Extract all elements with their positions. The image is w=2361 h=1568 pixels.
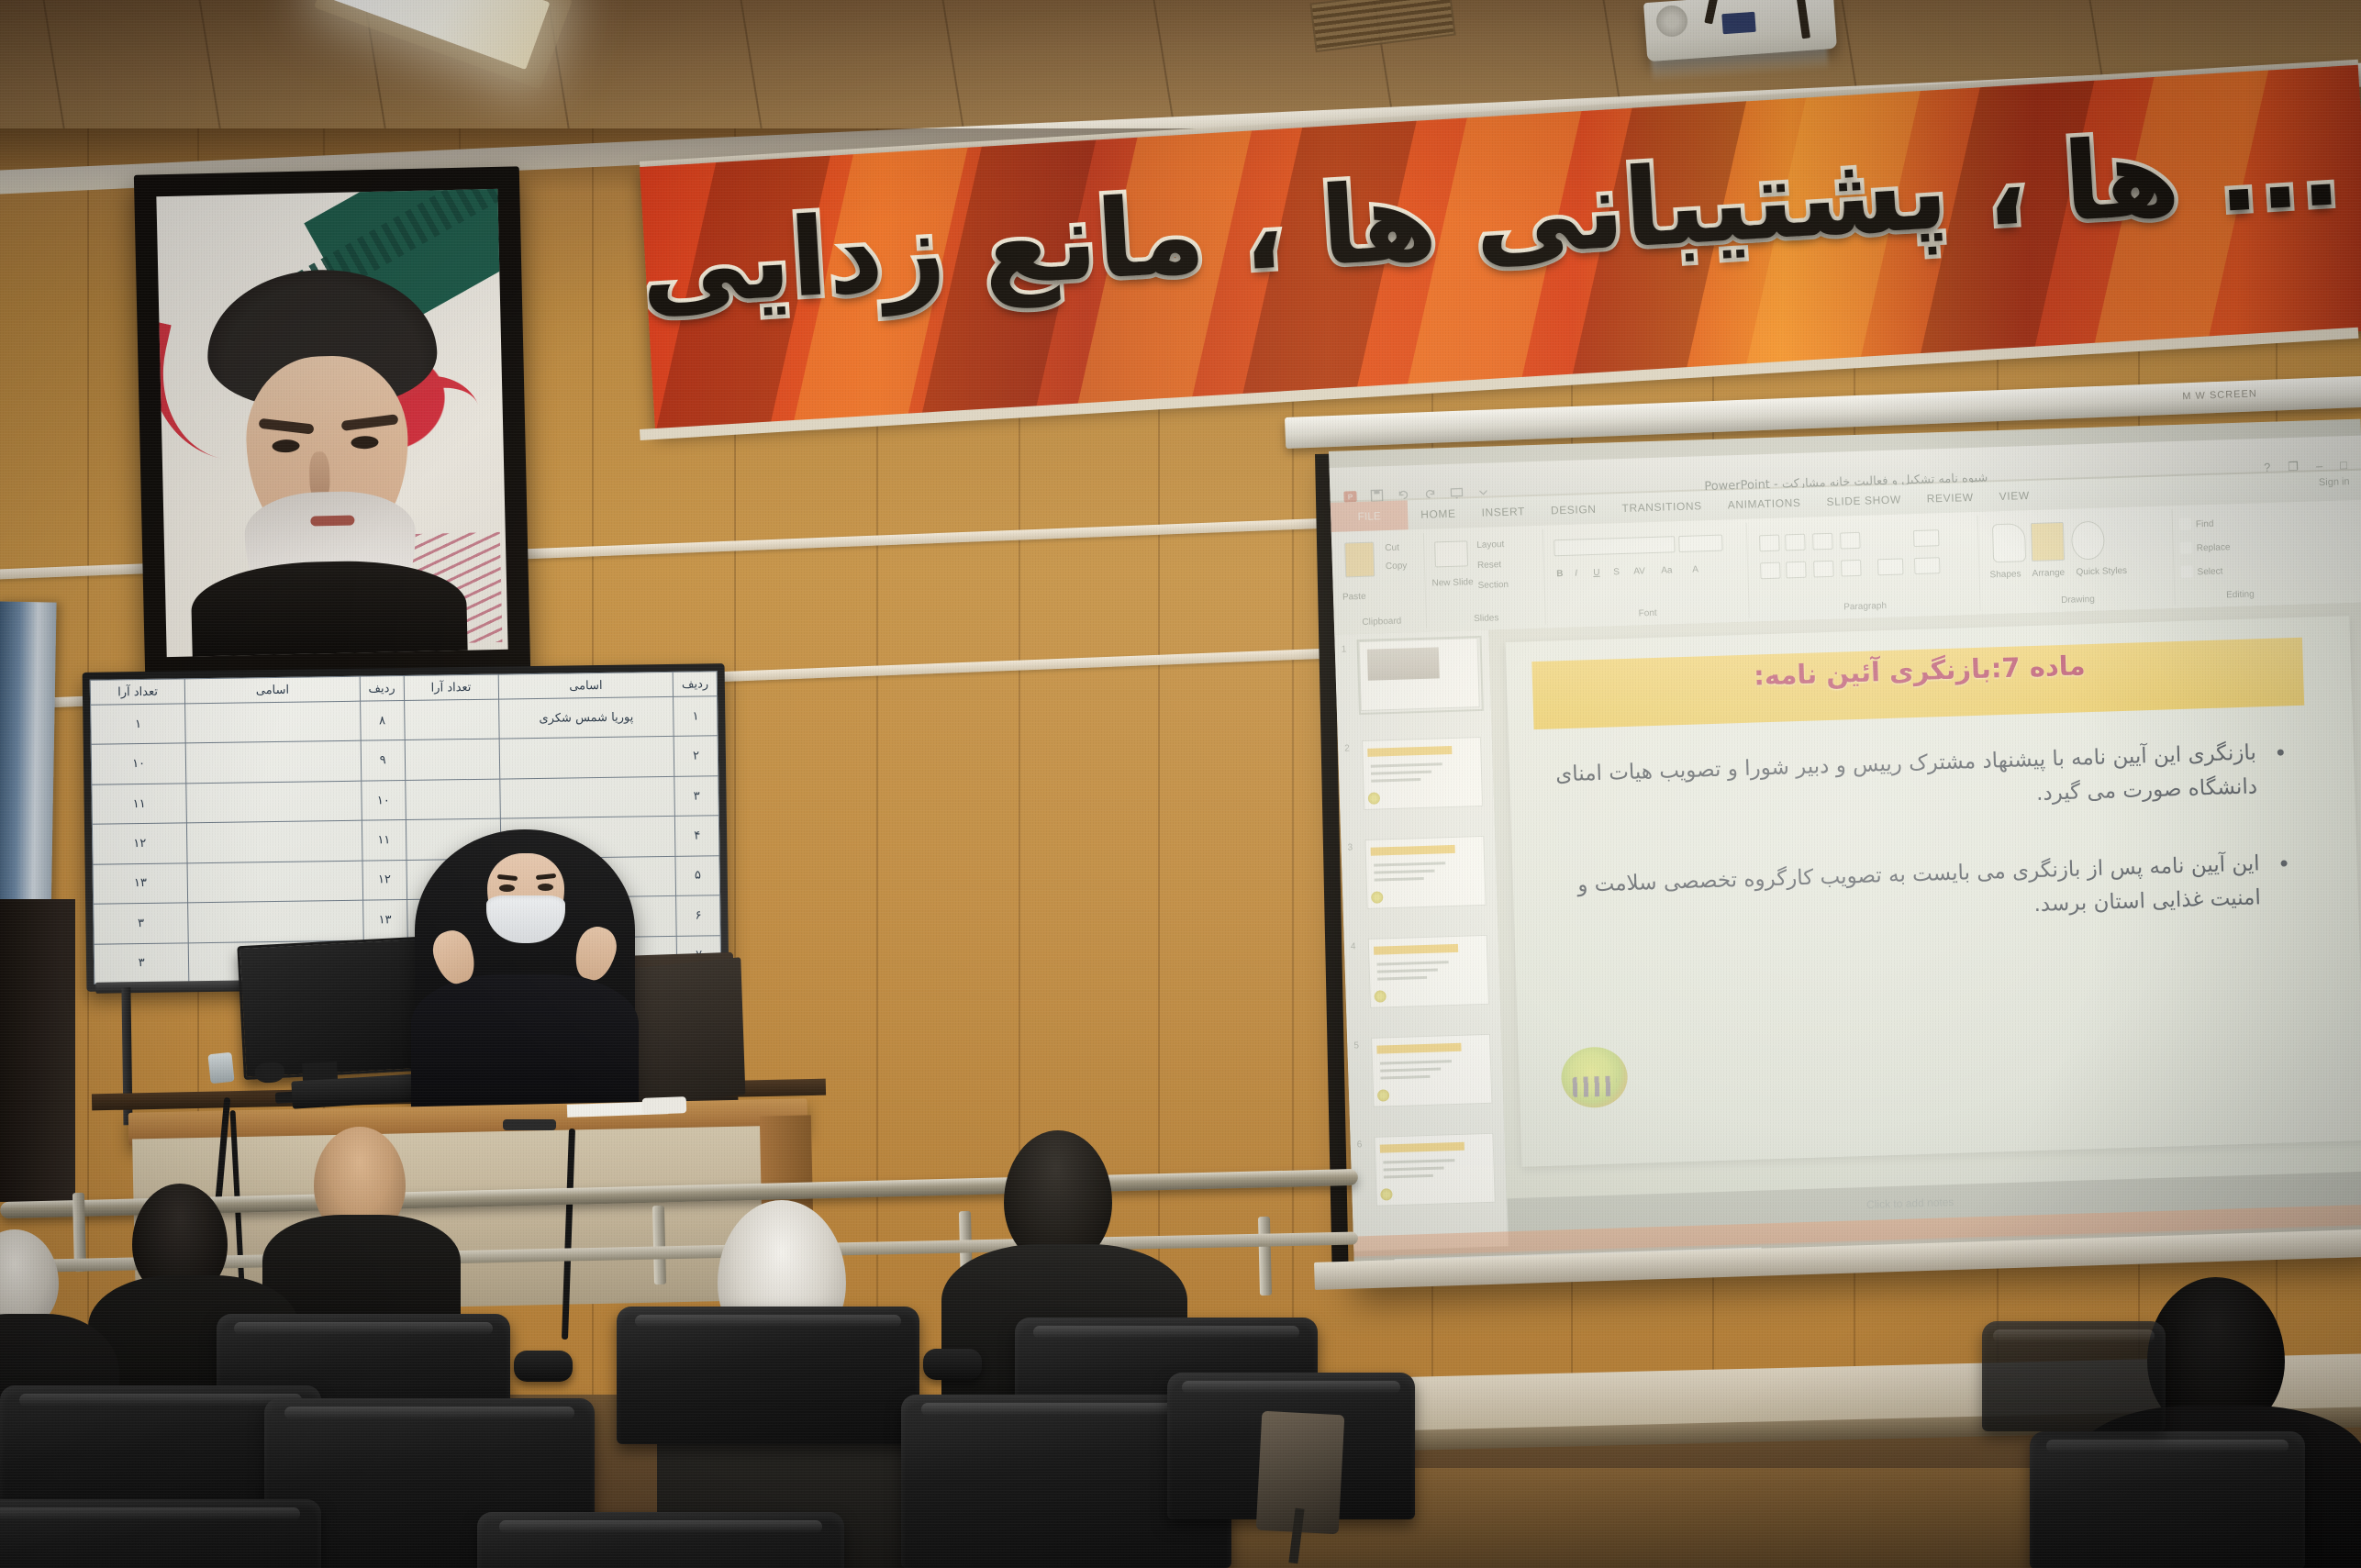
- tab-insert[interactable]: INSERT: [1468, 505, 1538, 519]
- thumbnail-text-line: [1384, 1174, 1433, 1179]
- presenter-remote[interactable]: [642, 1096, 687, 1115]
- arrange-label[interactable]: Arrange: [2032, 568, 2065, 579]
- cell-row-left: ۱۳: [362, 900, 406, 940]
- thumbnail-text-line: [1375, 877, 1424, 882]
- cell-name-left: [187, 861, 362, 903]
- thumbnail-title-band: [1374, 944, 1458, 955]
- cell-votes-left: ۳: [94, 903, 189, 944]
- ribbon-group-clipboard[interactable]: Paste Cut Copy Clipboard: [1335, 533, 1427, 631]
- thumbnail-number: 4: [1351, 941, 1356, 951]
- thumbnail-number: 6: [1357, 1140, 1363, 1150]
- cell-row-right: ۶: [676, 895, 720, 936]
- new-slide-label[interactable]: New Slide: [1431, 577, 1473, 588]
- cell-row-right: ۲: [674, 736, 718, 776]
- tab-transitions[interactable]: TRANSITIONS: [1609, 499, 1715, 516]
- cell-row-left: ۹: [361, 740, 405, 781]
- cut-label[interactable]: Cut: [1385, 543, 1399, 553]
- thumbnail-number: 1: [1342, 645, 1347, 655]
- group-label-clipboard: Clipboard: [1338, 616, 1426, 628]
- cell-row-right: ۱: [674, 696, 718, 737]
- thumbnail-text-line: [1371, 762, 1442, 767]
- slide-bullet-list: بازنگری این آیین نامه با پیشنهاد مشترک ر…: [1548, 735, 2299, 937]
- increase-indent-icon[interactable]: [1840, 532, 1861, 550]
- rail-post-2: [652, 1206, 666, 1284]
- paste-icon[interactable]: [1344, 542, 1375, 578]
- cell-row-right: ۵: [675, 855, 719, 895]
- seat-arm-1: [514, 1351, 573, 1382]
- thumbnail-text-line: [1380, 1060, 1452, 1064]
- ribbon-group-drawing[interactable]: Shapes Arrange Quick Styles Drawing: [1979, 509, 2176, 611]
- italic-button[interactable]: I: [1575, 569, 1577, 579]
- powerpoint-window[interactable]: P: [1329, 419, 2361, 1286]
- header-name-left: اسامی: [184, 676, 360, 704]
- numbering-icon[interactable]: [1785, 534, 1806, 551]
- seat-row1-2[interactable]: [617, 1307, 919, 1444]
- slide-body[interactable]: بازنگری این آیین نامه با پیشنهاد مشترک ر…: [1548, 735, 2300, 979]
- change-case-button[interactable]: Aa: [1661, 565, 1673, 575]
- thumbnail-text-line: [1371, 778, 1420, 783]
- thumbnail-seal-icon: [1371, 891, 1383, 903]
- cell-votes-right: [405, 739, 500, 780]
- cell-votes-left: ۱: [91, 704, 186, 745]
- thumbnail-seal-icon: [1380, 1188, 1392, 1200]
- thumbnail-text-line: [1374, 870, 1434, 874]
- bullets-icon[interactable]: [1759, 535, 1780, 552]
- thumbnail-title-band: [1371, 845, 1455, 856]
- slide-thumbnail-5[interactable]: 5: [1371, 1034, 1492, 1107]
- thumbnail-title-band: [1380, 1142, 1464, 1153]
- seal-figures-icon: [1573, 1075, 1618, 1096]
- find-icon[interactable]: [2179, 518, 2191, 530]
- seat-right-2[interactable]: [1982, 1321, 2166, 1431]
- bold-button[interactable]: B: [1556, 569, 1564, 579]
- thumbnail-seal-icon: [1374, 990, 1386, 1002]
- group-label-editing: Editing: [2176, 588, 2304, 602]
- tab-home[interactable]: HOME: [1408, 506, 1469, 521]
- thumbnail-number: 5: [1353, 1040, 1359, 1051]
- presenter-eye-right: [538, 884, 553, 891]
- conference-hall-photo: ... ها ، پشتیبانی ها ، مانع زدایی ها مبا…: [0, 0, 2361, 1568]
- sign-in-link[interactable]: Sign in: [2319, 476, 2350, 488]
- cell-name-left: [186, 781, 362, 823]
- convert-smartart-icon[interactable]: [1914, 557, 1941, 574]
- slide-bullet-2[interactable]: این آیین نامه پس از بازنگری می بایست به …: [1551, 847, 2270, 938]
- thumbnail-text-line: [1374, 862, 1445, 866]
- justify-icon[interactable]: [1841, 560, 1862, 577]
- tab-animations[interactable]: ANIMATIONS: [1715, 495, 1814, 511]
- khomeini-portrait-frame: [134, 166, 530, 679]
- seat-row3-1[interactable]: [0, 1499, 321, 1568]
- tab-file[interactable]: FILE: [1331, 500, 1409, 532]
- thumbnail-seal-icon: [1368, 792, 1380, 804]
- tab-view[interactable]: VIEW: [1986, 489, 2042, 504]
- header-row-right: ردیف: [674, 672, 718, 697]
- font-color-button[interactable]: A: [1692, 564, 1698, 574]
- replace-icon[interactable]: [2180, 542, 2192, 554]
- cell-name-left: [187, 820, 362, 862]
- cell-name-left: [185, 701, 361, 743]
- decrease-indent-icon[interactable]: [1812, 533, 1833, 550]
- cell-row-left: ۸: [360, 701, 404, 741]
- portrait-mouth: [310, 515, 354, 526]
- thumbnail-title-band: [1376, 1043, 1461, 1054]
- thumbnail-title-band: [1367, 746, 1452, 757]
- tab-slide-show[interactable]: SLIDE SHOW: [1813, 493, 1914, 508]
- shadow-button[interactable]: S: [1613, 567, 1620, 577]
- current-slide[interactable]: ماده 7:بازنگری آئین نامه: بازنگری این آی…: [1506, 616, 2361, 1167]
- rail-post-4: [1258, 1217, 1272, 1296]
- cell-row-left: ۱۰: [362, 780, 406, 820]
- layout-label[interactable]: Layout: [1476, 539, 1504, 550]
- ribbon-group-slides[interactable]: New Slide Layout Reset Section Slides: [1425, 529, 1546, 628]
- text-direction-icon[interactable]: [1913, 529, 1940, 547]
- align-left-icon[interactable]: [1760, 562, 1781, 580]
- notes-placeholder[interactable]: Click to add notes: [1866, 1195, 1955, 1211]
- group-label-font: Font: [1547, 606, 1749, 622]
- thumbnail-number: 2: [1344, 743, 1350, 753]
- thumbnail-text-line: [1377, 969, 1438, 973]
- group-label-drawing: Drawing: [1981, 592, 2174, 608]
- seat-row3-2[interactable]: [477, 1512, 844, 1568]
- projector-vga-port: [1721, 12, 1755, 34]
- thumbnail-text-line: [1377, 961, 1449, 965]
- thumbnail-text-line: [1371, 771, 1431, 775]
- slide-editing-area[interactable]: ماده 7:بازنگری آئین نامه: بازنگری این آی…: [1488, 603, 2361, 1199]
- slide-thumbnail-4[interactable]: 4: [1368, 935, 1489, 1008]
- seat-right-1[interactable]: [2030, 1431, 2305, 1568]
- thumbnail-text-line: [1384, 1166, 1444, 1171]
- cell-votes-left: ۱۰: [91, 743, 186, 784]
- quick-styles-label[interactable]: Quick Styles: [2076, 566, 2127, 578]
- seat-arm-2: [923, 1349, 982, 1380]
- thumbnail-seal-icon: [1377, 1089, 1389, 1101]
- thumbnail-text-line: [1383, 1159, 1454, 1163]
- new-slide-icon[interactable]: [1434, 540, 1468, 567]
- align-right-icon[interactable]: [1813, 561, 1834, 578]
- cell-votes-right: [404, 699, 499, 740]
- font-size-dropdown[interactable]: [1678, 535, 1723, 552]
- desktop-monitor: [237, 937, 425, 1080]
- shapes-gallery-icon[interactable]: [1992, 523, 2026, 562]
- header-row-left: ردیف: [360, 676, 404, 702]
- cell-name-right: [499, 737, 674, 779]
- slide-thumbnail-3[interactable]: 3: [1364, 836, 1486, 909]
- slide-thumbnail-6[interactable]: 6: [1374, 1133, 1495, 1207]
- microphone-base: [503, 1119, 556, 1130]
- reset-label[interactable]: Reset: [1477, 560, 1501, 571]
- ribbon-group-editing[interactable]: Find Replace Select Editing: [2173, 506, 2304, 605]
- header-name-right: اسامی: [498, 672, 674, 699]
- replace-label[interactable]: Replace: [2197, 542, 2231, 553]
- thumbnail-text-line: [1377, 976, 1427, 981]
- thumbnail-number: 3: [1347, 842, 1353, 852]
- presenter-woman: [415, 807, 635, 1138]
- cell-row-left: ۱۲: [362, 860, 406, 900]
- cell-votes-left: ۳: [94, 942, 189, 984]
- cell-name-left: [188, 900, 363, 942]
- cell-row-right: ۳: [674, 776, 718, 817]
- select-icon[interactable]: [2180, 565, 2192, 577]
- cell-row-right: ۴: [675, 816, 719, 856]
- font-family-dropdown[interactable]: [1554, 536, 1676, 556]
- portrait-robe: [190, 559, 467, 657]
- paste-label[interactable]: Paste: [1342, 592, 1366, 603]
- slide-bullet-1[interactable]: بازنگری این آیین نامه با پیشنهاد مشترک ر…: [1548, 736, 2267, 827]
- presenter-eye-left: [499, 884, 515, 892]
- cell-name-right: پوریا شمس شکری: [498, 696, 674, 739]
- thumbnail-text-line: [1380, 1067, 1441, 1072]
- group-label-slides: Slides: [1428, 612, 1545, 626]
- find-label[interactable]: Find: [2196, 519, 2214, 530]
- header-votes-right: تعداد آرا: [404, 674, 499, 700]
- left-dark-panel: [0, 899, 75, 1202]
- tab-review[interactable]: REVIEW: [1914, 491, 1987, 506]
- laptop: [622, 957, 746, 1107]
- slide-thumbnail-2[interactable]: 2: [1362, 737, 1483, 810]
- cell-row-left: ۱۱: [362, 820, 406, 861]
- underline-button[interactable]: U: [1593, 568, 1600, 578]
- ribbon-group-font[interactable]: B I U S AV Aa A Font: [1544, 523, 1750, 625]
- select-label[interactable]: Select: [2197, 566, 2222, 577]
- tab-design[interactable]: DESIGN: [1538, 502, 1609, 517]
- thumbnail-selection-outline: [1356, 636, 1484, 715]
- align-center-icon[interactable]: [1786, 562, 1807, 579]
- water-bottle: [207, 1052, 234, 1084]
- slide-thumbnail-pane[interactable]: 123456: [1334, 630, 1509, 1251]
- thumbnail-text-line: [1380, 1075, 1430, 1080]
- header-votes-left: تعداد آرا: [90, 679, 185, 705]
- cell-votes-left: ۱۱: [92, 784, 187, 825]
- screen-brand-label: M W SCREEN: [2182, 388, 2257, 402]
- group-label-paragraph: Paragraph: [1750, 598, 1979, 616]
- cell-votes-left: ۱۳: [93, 863, 188, 905]
- cell-name-left: [185, 741, 361, 784]
- shapes-label[interactable]: Shapes: [1989, 569, 2021, 580]
- section-label[interactable]: Section: [1478, 580, 1509, 591]
- arrange-icon[interactable]: [2031, 522, 2065, 562]
- columns-icon[interactable]: [1877, 558, 1904, 575]
- ribbon-group-paragraph[interactable]: Paragraph: [1748, 516, 1981, 618]
- projection-screen: P: [1329, 419, 2361, 1286]
- khomeini-portrait-image: [156, 189, 507, 657]
- cell-votes-left: ۱۲: [92, 823, 187, 864]
- character-spacing-button[interactable]: AV: [1633, 566, 1645, 576]
- quick-styles-icon[interactable]: [2071, 521, 2105, 561]
- copy-label[interactable]: Copy: [1386, 561, 1408, 572]
